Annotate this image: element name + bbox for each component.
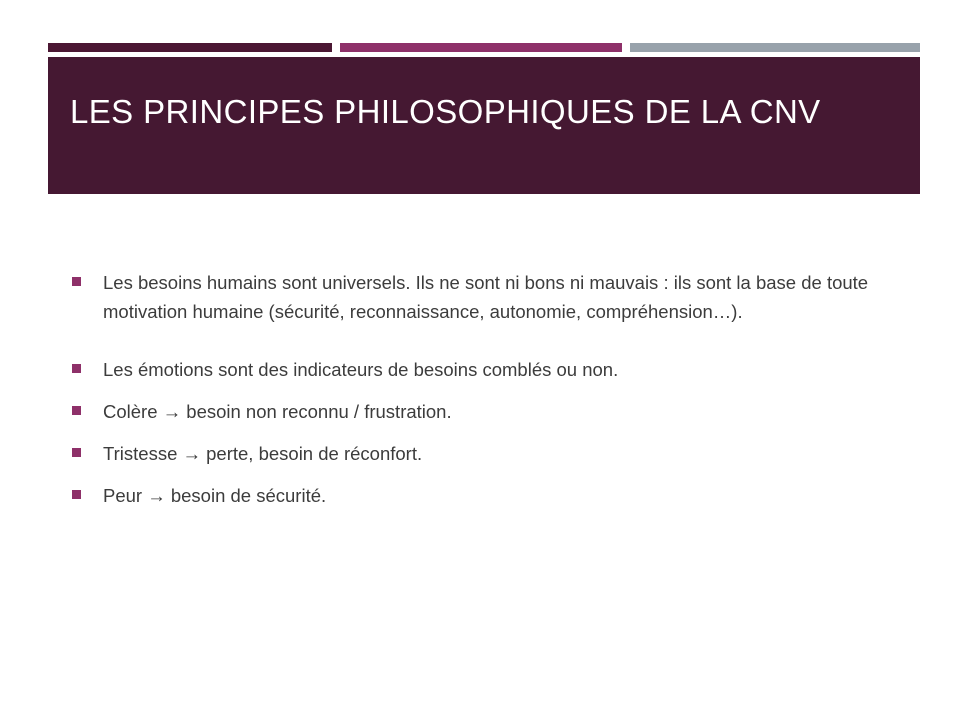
square-bullet-icon <box>72 490 81 499</box>
list-item-label: Tristesse → perte, besoin de réconfort. <box>103 439 884 468</box>
bullet-spacer <box>72 326 884 355</box>
bullet-spacer <box>72 426 884 439</box>
list-item: Tristesse → perte, besoin de réconfort. <box>72 439 884 468</box>
list-item: Les émotions sont des indicateurs de bes… <box>72 355 884 384</box>
bullet-spacer <box>72 468 884 481</box>
bullet-spacer <box>72 384 884 397</box>
accent-bar-gray <box>630 43 920 52</box>
square-bullet-icon <box>72 277 81 286</box>
list-item: Les besoins humains sont universels. Ils… <box>72 268 884 326</box>
list-item-label: Les besoins humains sont universels. Ils… <box>103 268 873 326</box>
square-bullet-icon <box>72 406 81 415</box>
square-bullet-icon <box>72 364 81 373</box>
list-item-label: Les émotions sont des indicateurs de bes… <box>103 355 884 384</box>
page-title: LES PRINCIPES PHILOSOPHIQUES DE LA CNV <box>70 93 900 131</box>
list-item-label: Peur → besoin de sécurité. <box>103 481 884 510</box>
list-item-label: Colère → besoin non reconnu / frustratio… <box>103 397 884 426</box>
bullet-list: Les besoins humains sont universels. Ils… <box>72 268 884 510</box>
accent-bar-dark <box>48 43 332 52</box>
slide-canvas: LES PRINCIPES PHILOSOPHIQUES DE LA CNV L… <box>0 0 960 720</box>
accent-bar-magenta <box>340 43 622 52</box>
title-banner: LES PRINCIPES PHILOSOPHIQUES DE LA CNV <box>48 57 920 194</box>
list-item: Peur → besoin de sécurité. <box>72 481 884 510</box>
list-item: Colère → besoin non reconnu / frustratio… <box>72 397 884 426</box>
square-bullet-icon <box>72 448 81 457</box>
